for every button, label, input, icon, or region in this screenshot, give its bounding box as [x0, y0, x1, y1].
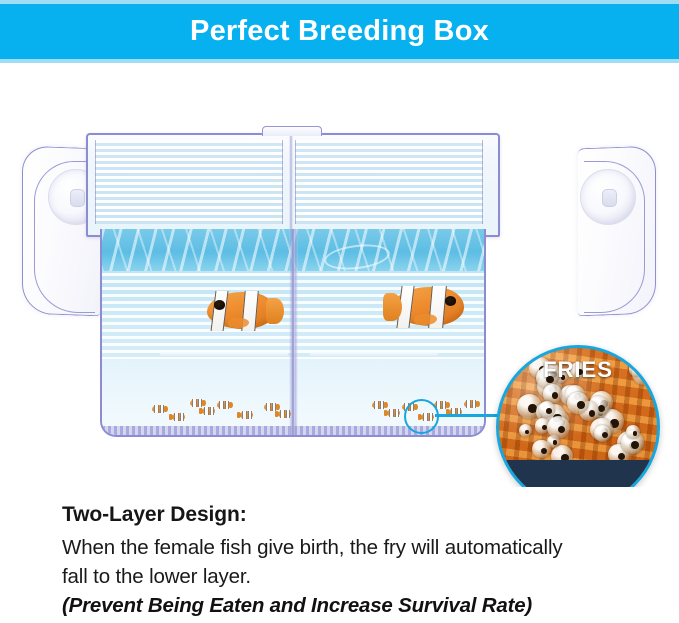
- page-title: Perfect Breeding Box: [0, 4, 679, 59]
- fry-tail: [229, 402, 233, 408]
- fry: [215, 400, 232, 410]
- suction-cup-nub-left: [70, 189, 85, 207]
- fry-tail: [384, 402, 388, 408]
- clownfish-graphic: [385, 283, 471, 333]
- fry-tail: [202, 400, 206, 406]
- fry-tail: [164, 406, 168, 412]
- fry-stripe: [395, 409, 400, 417]
- center-divider: [289, 229, 298, 435]
- fry-tail: [237, 412, 241, 418]
- caption-line-1: When the female fish give birth, the fry…: [62, 536, 662, 560]
- lid-top: [86, 133, 496, 233]
- grate-shelf-right: [310, 351, 438, 356]
- water-ripple: [322, 241, 390, 273]
- fry-stripe: [219, 401, 224, 409]
- lid-grille-left: [95, 140, 283, 224]
- fry-tail: [384, 410, 388, 416]
- fry-tail: [476, 401, 480, 407]
- fry-stripe: [248, 411, 253, 419]
- fry-stripe: [204, 407, 209, 415]
- suction-cup-nub-right: [602, 189, 617, 207]
- fry-egg: [539, 401, 555, 417]
- caption-heading: Two-Layer Design:: [62, 503, 662, 527]
- fry-stripe: [266, 403, 271, 411]
- clownfish-graphic: [200, 288, 282, 336]
- caption-emphasis: (Prevent Being Eaten and Increase Surviv…: [62, 594, 662, 618]
- fry: [238, 410, 255, 420]
- fish-eye: [214, 300, 225, 309]
- fry-stripe: [280, 410, 285, 418]
- fry-stripe: [180, 413, 185, 421]
- divider-rod: [292, 229, 294, 435]
- fry: [150, 404, 167, 414]
- fry-stripe: [154, 405, 159, 413]
- fry-stripe: [466, 400, 471, 408]
- fish-eye: [445, 296, 456, 306]
- fry: [276, 409, 293, 419]
- callout-label: FRIES: [499, 348, 657, 394]
- fry-stripe: [242, 411, 247, 419]
- lid-handle-tab: [262, 126, 322, 136]
- callout-leader-line: [435, 414, 501, 417]
- fry-stripe: [174, 413, 179, 421]
- fry-stripe: [192, 399, 197, 407]
- clownfish-left: [200, 288, 282, 336]
- mounting-bracket-right: [578, 147, 656, 315]
- fry-stripe: [374, 401, 379, 409]
- fry-stripe: [286, 410, 291, 418]
- fry-egg: [547, 416, 570, 439]
- fry-highlight-circle: [404, 399, 439, 434]
- fry-tail: [275, 411, 279, 417]
- fish-tail: [266, 298, 284, 325]
- suction-cup-right-icon: [580, 169, 636, 225]
- fry: [462, 399, 479, 409]
- caption-line-2: fall to the lower layer.: [62, 565, 662, 589]
- header-band: Perfect Breeding Box: [0, 0, 679, 63]
- callout-banner: [499, 460, 657, 487]
- product-image: FRIES: [0, 63, 679, 487]
- fries-callout: FRIES: [496, 345, 660, 487]
- fry: [170, 412, 187, 422]
- lid-grille-right: [295, 140, 483, 224]
- clownfish-right: [385, 283, 471, 333]
- fry-egg: [532, 440, 550, 458]
- fry-egg: [519, 424, 532, 437]
- fry-stripe: [389, 409, 394, 417]
- lid-seam: [289, 133, 293, 233]
- fry-tail: [199, 408, 203, 414]
- fry-egg: [594, 425, 612, 443]
- fry-tail: [169, 414, 173, 420]
- grate-shelf-left: [160, 351, 288, 356]
- fry-stripe: [210, 407, 215, 415]
